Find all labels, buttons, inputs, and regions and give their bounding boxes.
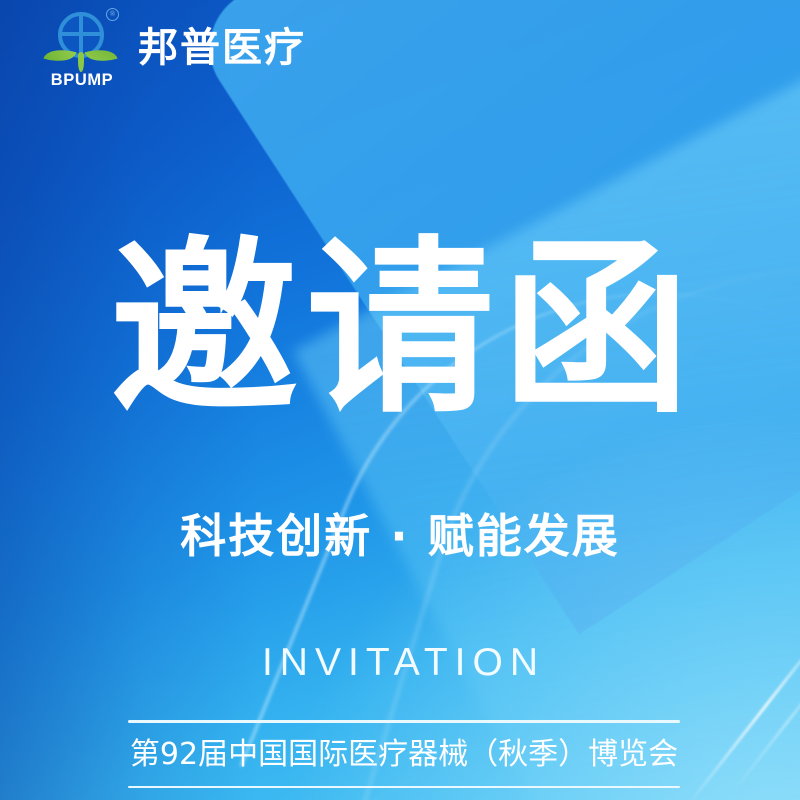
brand-header: ® BPUMP 邦普医疗 bbox=[0, 0, 800, 96]
footer-rule-bottom bbox=[128, 786, 680, 789]
invitation-poster: ® BPUMP 邦普医疗 邀请函 科技创新 · 赋能发展 INVITATION … bbox=[0, 0, 800, 800]
bpump-logo-icon: ® BPUMP bbox=[44, 8, 120, 88]
logo-wordmark: BPUMP bbox=[44, 71, 120, 90]
logo-leaf-stem-icon bbox=[78, 52, 84, 72]
footer: 第92届中国国际医疗器械（秋季）博览会 bbox=[128, 720, 680, 788]
registered-trademark-icon: ® bbox=[106, 8, 119, 21]
logo-vertical-bar-icon bbox=[79, 13, 83, 57]
brand-name: 邦普医疗 bbox=[138, 28, 306, 68]
invitation-english-label: INVITATION bbox=[0, 643, 800, 682]
page-title: 邀请函 bbox=[0, 236, 800, 424]
event-name: 第92届中国国际医疗器械（秋季）博览会 bbox=[128, 723, 680, 786]
slogan: 科技创新 · 赋能发展 bbox=[0, 509, 800, 564]
